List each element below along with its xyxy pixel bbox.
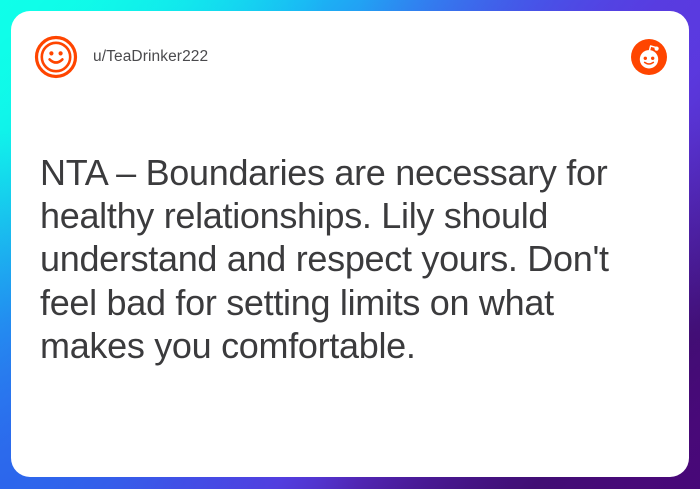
screenshot-canvas: u/TeaDrinker222 NTA – Boundaries are nec… xyxy=(0,0,700,489)
post-text: NTA – Boundaries are necessary for healt… xyxy=(40,151,643,367)
reddit-post-card: u/TeaDrinker222 NTA – Boundaries are nec… xyxy=(11,11,689,477)
smiley-face-avatar-icon[interactable] xyxy=(34,35,78,79)
post-header: u/TeaDrinker222 xyxy=(11,11,689,103)
reddit-snoo-logo-icon[interactable] xyxy=(631,39,667,75)
post-author-username[interactable]: u/TeaDrinker222 xyxy=(93,48,208,66)
